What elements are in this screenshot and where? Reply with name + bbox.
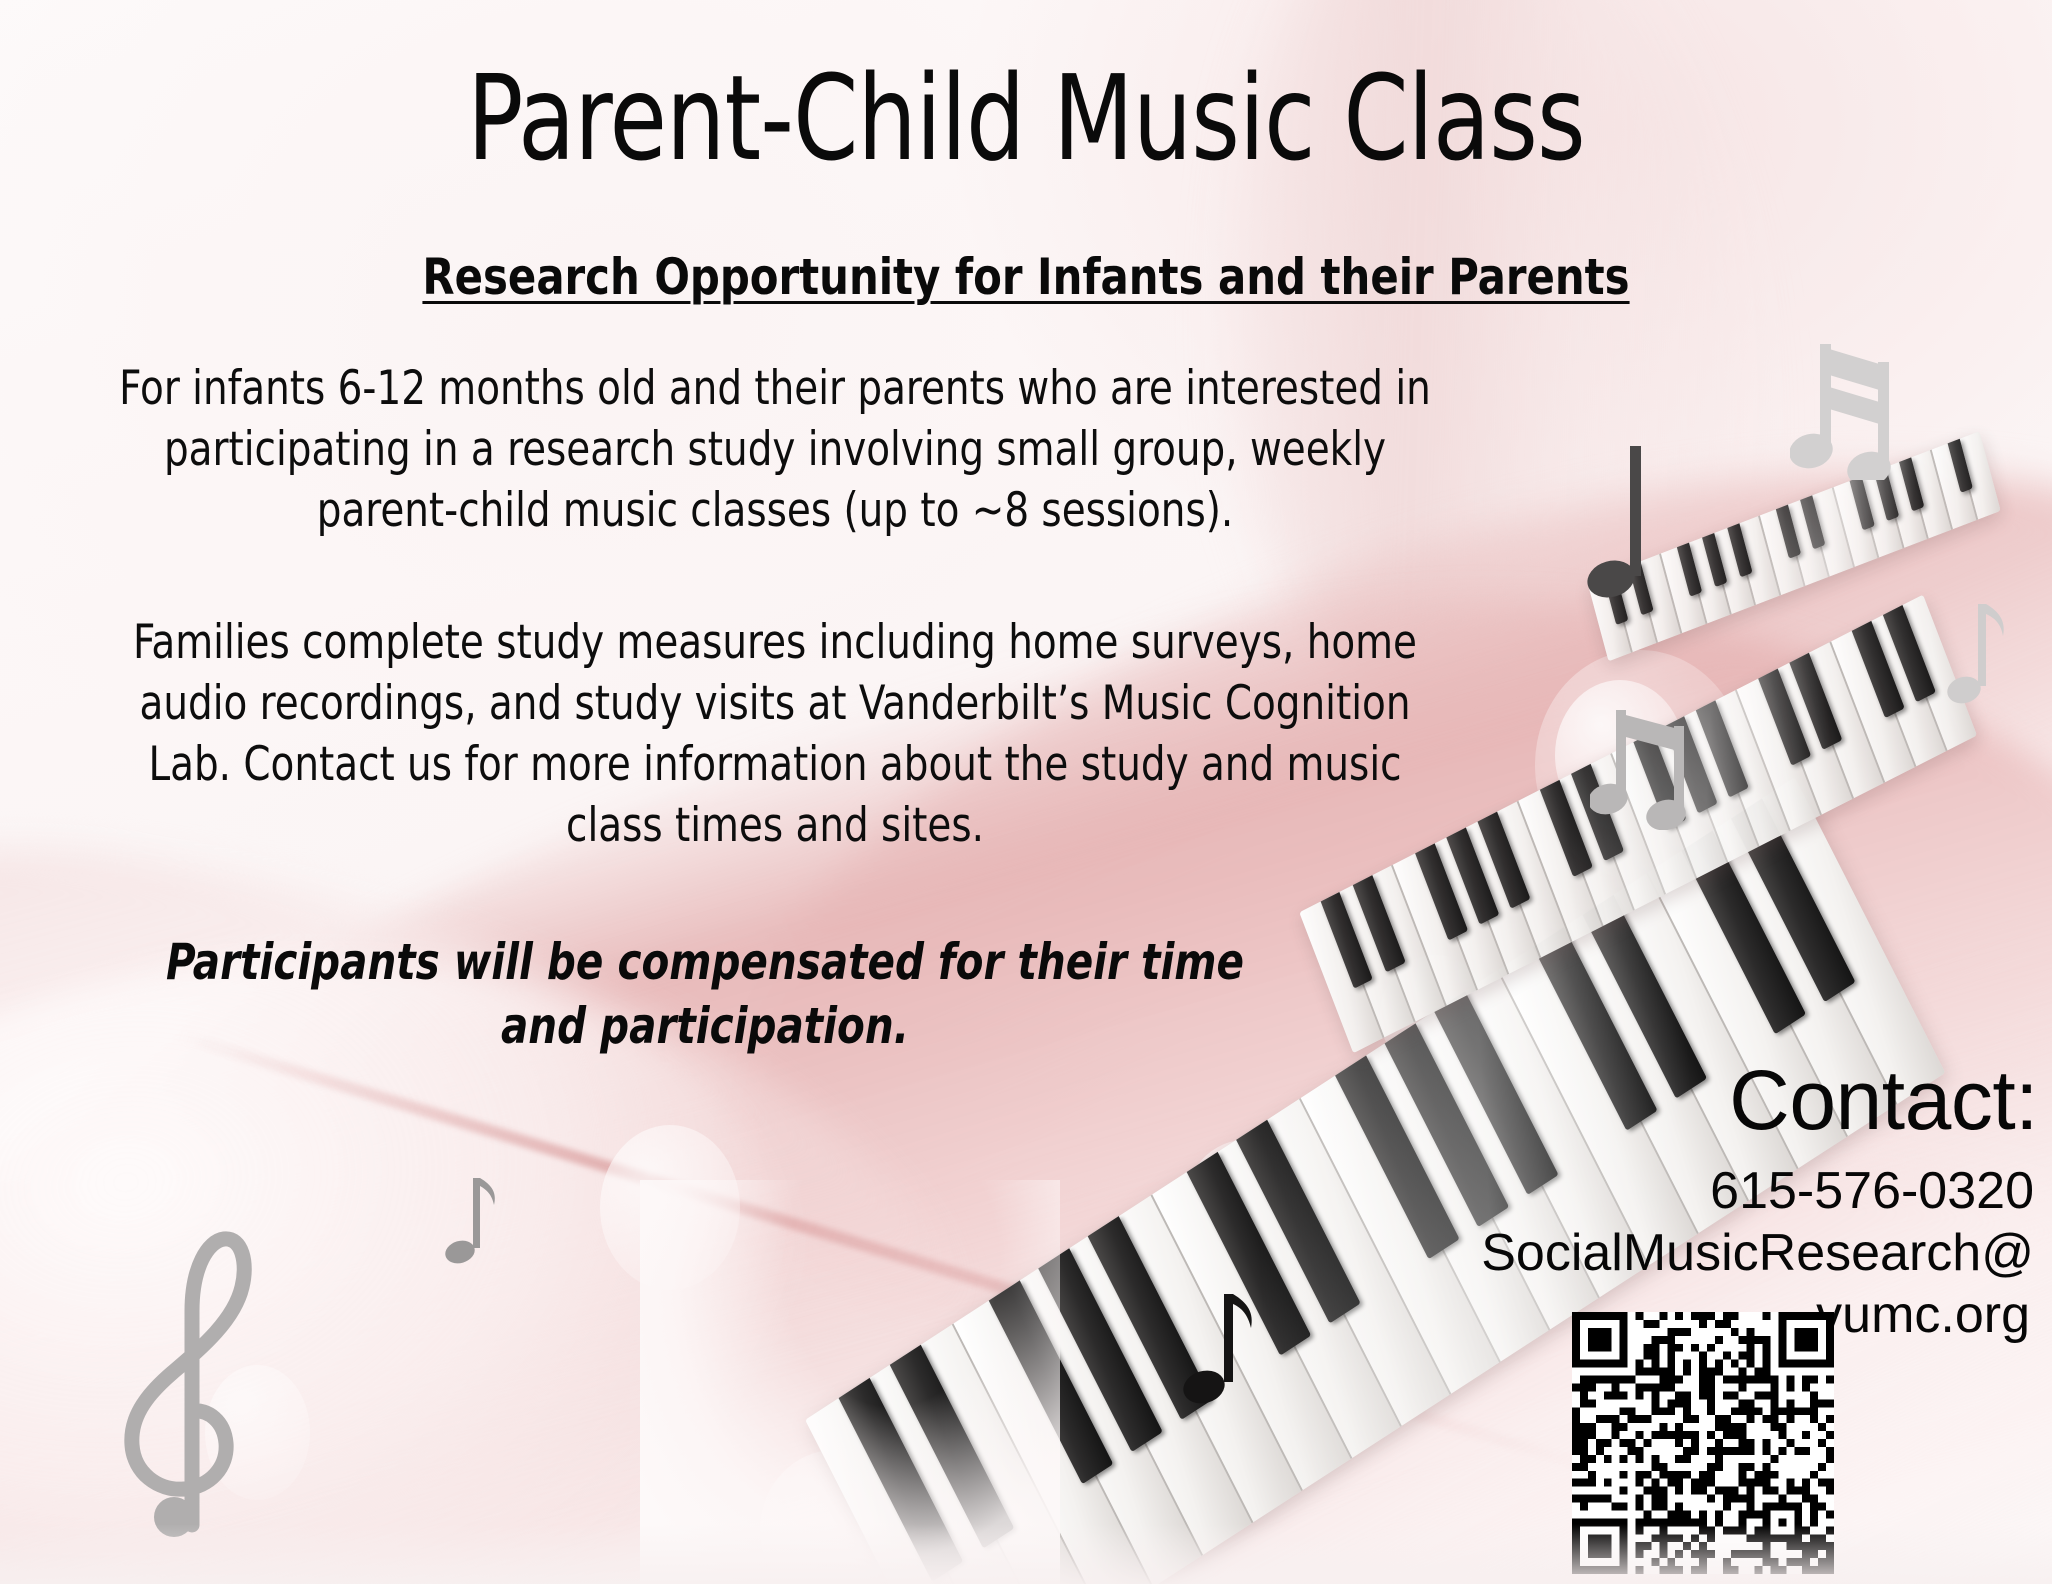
page-subtitle: Research Opportunity for Infants and the… bbox=[72, 248, 1980, 306]
body-paragraph-study-measures: Families complete study measures includi… bbox=[99, 612, 1451, 856]
contact-email-line-1[interactable]: SocialMusicResearch@ bbox=[1234, 1223, 2044, 1284]
body-paragraph-eligibility: For infants 6-12 months old and their pa… bbox=[99, 358, 1451, 541]
background-bottom-fade bbox=[0, 1524, 2052, 1584]
page-title: Parent-Child Music Class bbox=[123, 58, 1929, 178]
contact-heading: Contact: bbox=[1234, 1058, 2044, 1142]
compensation-note: Participants will be compensated for the… bbox=[125, 930, 1286, 1058]
contact-phone[interactable]: 615-576-0320 bbox=[1234, 1160, 2044, 1223]
contact-block: Contact: 615-576-0320 SocialMusicResearc… bbox=[1234, 1058, 2044, 1346]
flyer-poster: Parent-Child Music Class Research Opport… bbox=[0, 0, 2052, 1584]
